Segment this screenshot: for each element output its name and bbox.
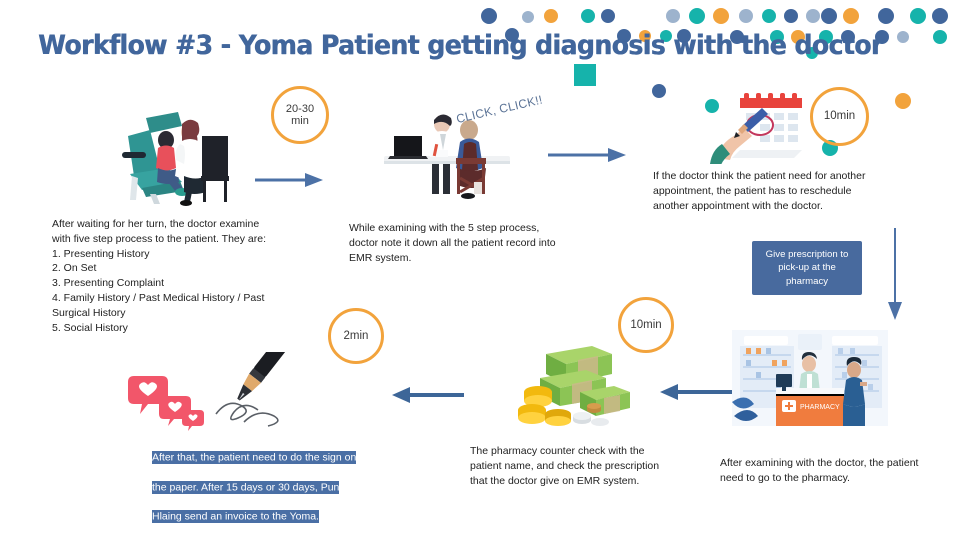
badge-label: 10min — [824, 110, 855, 123]
badge-20-30-min: 20-30 min — [271, 86, 329, 144]
pen-signature-illustration — [128, 352, 300, 434]
badge-label: 2min — [344, 330, 369, 343]
decor-square — [574, 64, 596, 86]
arrow-step1-to-step2 — [255, 170, 323, 190]
decor-dot — [522, 11, 534, 23]
decor-dot — [689, 8, 705, 24]
step-3-description: If the doctor think the patient need for… — [653, 169, 898, 213]
badge-label: 10min — [630, 319, 661, 332]
decor-dot — [581, 9, 595, 23]
decor-dot — [739, 9, 753, 23]
arrow-pharmacy-to-check — [660, 382, 732, 402]
calendar-with-hand-illustration — [706, 92, 810, 164]
decor-dot — [806, 9, 820, 23]
pharmacy-counter-illustration: PHARMACY — [732, 330, 888, 426]
decor-dot — [933, 30, 947, 44]
decor-dot — [652, 84, 666, 98]
badge-label: 20-30 min — [286, 103, 314, 128]
page-title: Workflow #3 - Yoma Patient getting diagn… — [38, 30, 883, 61]
selected-text-line: After that, the patient need to do the s… — [152, 451, 356, 464]
badge-2min: 2min — [328, 308, 384, 364]
decor-dot — [713, 8, 729, 24]
decor-dot — [897, 31, 909, 43]
arrow-step3-to-pharmacy — [885, 228, 905, 320]
selected-text-line: the paper. After 15 days or 30 days, Pun — [152, 481, 339, 494]
decor-dot — [843, 8, 859, 24]
money-stacks-illustration — [508, 340, 634, 428]
decor-dot — [784, 9, 798, 23]
doctor-examining-patient-illustration — [98, 96, 234, 208]
decor-dot — [544, 9, 558, 23]
badge-10min-pharmacy: 10min — [618, 297, 674, 353]
decor-dot — [878, 8, 894, 24]
prescription-note-box: Give prescription to pick-up at the phar… — [752, 241, 862, 295]
decor-dot — [666, 9, 680, 23]
decor-dot — [895, 93, 911, 109]
step-5-description: The pharmacy counter check with the pati… — [470, 444, 695, 488]
arrow-check-to-sign — [392, 385, 464, 405]
decor-dot — [910, 8, 926, 24]
step-4-description: After examining with the doctor, the pat… — [720, 456, 960, 486]
prescription-note-label: Give prescription to pick-up at the phar… — [766, 248, 849, 289]
workflow-canvas: Workflow #3 - Yoma Patient getting diagn… — [0, 0, 960, 540]
pharmacy-sign-text: PHARMACY — [800, 404, 840, 411]
selected-text-line: Hlaing send an invoice to the Yoma. — [152, 510, 319, 523]
step-1-description: After waiting for her turn, the doctor e… — [52, 217, 342, 335]
decor-dot — [601, 9, 615, 23]
step-6-description-selected: After that, the patient need to do the s… — [152, 436, 367, 525]
decor-dot — [481, 8, 497, 24]
decor-dot — [762, 9, 776, 23]
badge-10min-reschedule: 10min — [810, 87, 869, 146]
step-2-description: While examining with the 5 step process,… — [349, 221, 589, 265]
arrow-step2-to-step3 — [548, 145, 626, 165]
decor-dot — [932, 8, 948, 24]
decor-dot — [821, 8, 837, 24]
